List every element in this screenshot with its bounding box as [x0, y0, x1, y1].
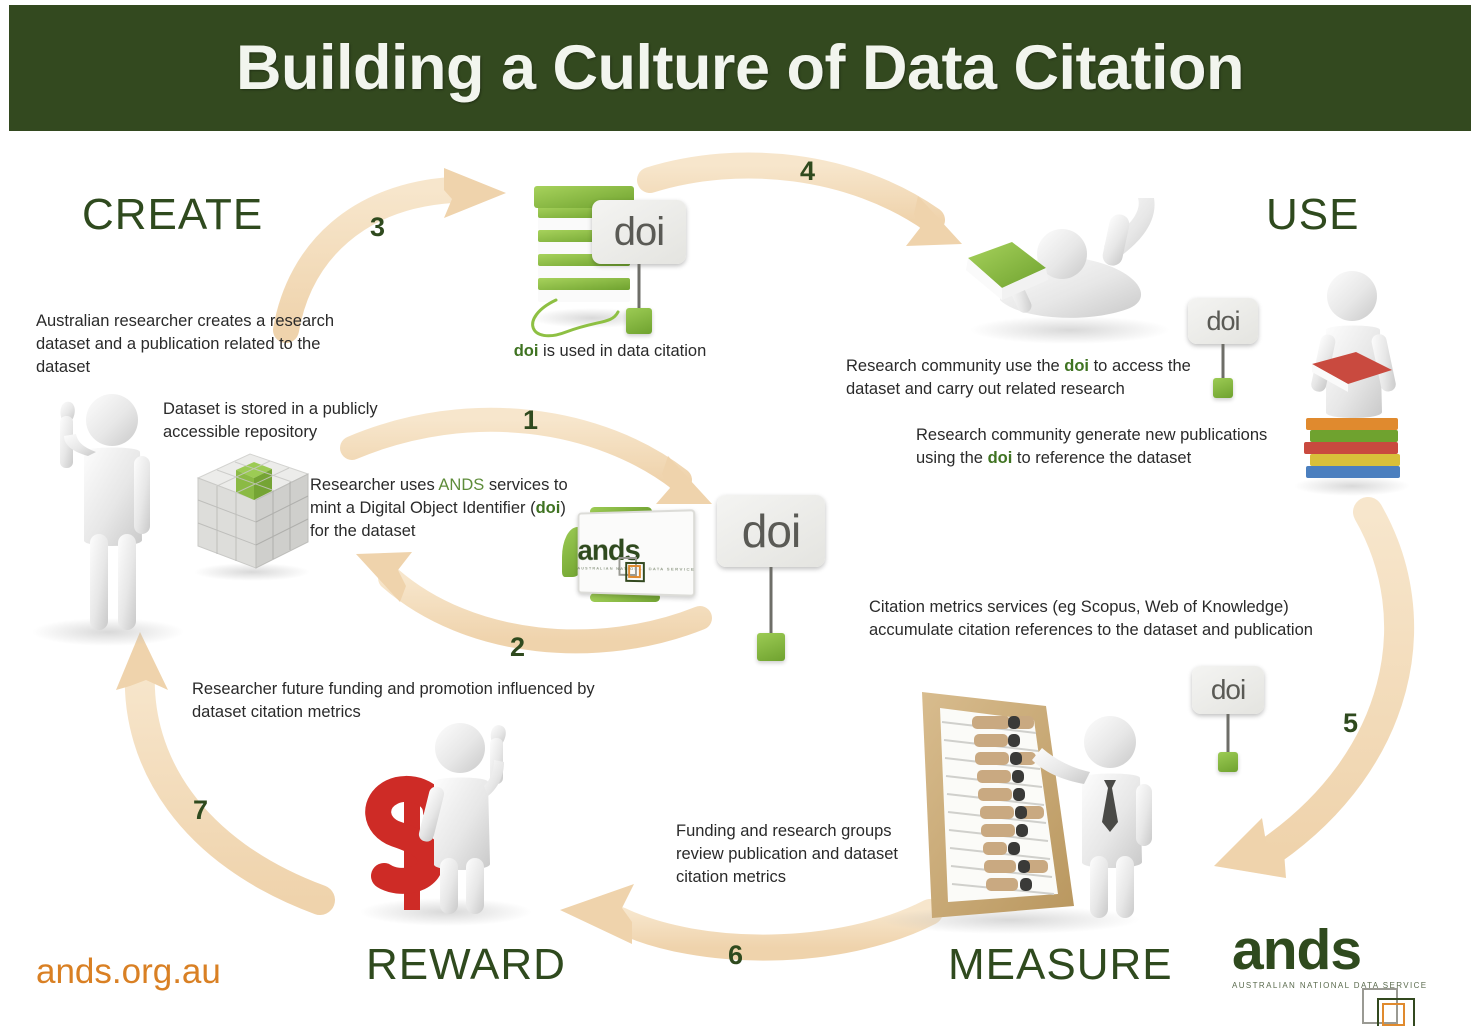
square-orange-icon — [1382, 1003, 1405, 1026]
square-orange-icon — [628, 564, 641, 577]
data-cube-icon — [194, 454, 310, 581]
doi-sign-use: doi — [1188, 298, 1258, 344]
stage-label-use: USE — [1266, 190, 1359, 240]
step-number-3: 3 — [370, 212, 385, 243]
doi-keyword: doi — [536, 499, 561, 517]
step-number-7: 7 — [193, 795, 208, 826]
text-create-description: Australian researcher creates a research… — [36, 310, 336, 378]
doi-sign-stem — [638, 264, 641, 314]
step-number-6: 6 — [728, 940, 743, 971]
doi-sign-base — [626, 308, 652, 334]
step-number-2: 2 — [510, 632, 525, 663]
doi-sign-main: doi — [717, 495, 825, 567]
site-url-link[interactable]: ands.org.au — [36, 952, 221, 992]
arrow-6 — [560, 884, 930, 948]
text-mint-doi: Researcher uses ANDS services to mint a … — [310, 474, 580, 542]
infographic-page: Building a Culture of Data Citation — [0, 0, 1480, 1026]
text-reward-funding: Researcher future funding and promotion … — [192, 678, 632, 724]
ands-logo-mark: ands AUSTRALIAN NATIONAL DATA SERVICE — [1232, 922, 1428, 990]
text-use-access: Research community use the doi to access… — [846, 355, 1206, 401]
doi-keyword: doi — [988, 449, 1013, 467]
doi-sign-label: doi — [1188, 298, 1258, 344]
abacus-figure — [880, 692, 1152, 934]
ands-logo-small: ands AUSTRALIAN NATIONAL DATA SERVICE — [578, 535, 696, 572]
doi-citation-rest: is used in data citation — [538, 342, 706, 360]
doi-sign-stem — [770, 567, 773, 641]
reward-figure — [360, 723, 532, 926]
text-use-publications: Research community generate new publicat… — [916, 424, 1306, 470]
text-citation-metrics: Citation metrics services (eg Scopus, We… — [869, 596, 1339, 642]
step-number-4: 4 — [800, 156, 815, 187]
ands-laptop-icon: ands AUSTRALIAN NATIONAL DATA SERVICE — [560, 505, 700, 613]
stage-label-create: CREATE — [82, 190, 263, 240]
doi-sign-label: doi — [592, 200, 686, 264]
mint-text-pre: Researcher uses — [310, 476, 438, 494]
laptop-screen: ands AUSTRALIAN NATIONAL DATA SERVICE — [578, 509, 696, 597]
page-title: Building a Culture of Data Citation — [236, 32, 1244, 104]
dollar-sign-icon — [378, 788, 436, 910]
ands-wordmark: ands — [1232, 922, 1428, 979]
stage-label-reward: REWARD — [366, 940, 566, 990]
use-pub-post: to reference the dataset — [1012, 449, 1191, 467]
person-on-books-figure — [1294, 271, 1410, 496]
doi-sign-base — [757, 633, 785, 661]
step-number-5: 5 — [1343, 708, 1358, 739]
doi-sign-label: doi — [1192, 666, 1264, 714]
ands-logo: ands AUSTRALIAN NATIONAL DATA SERVICE — [1232, 922, 1432, 1006]
doi-keyword: doi — [1064, 357, 1089, 375]
stage-label-measure: MEASURE — [948, 940, 1173, 990]
doi-sign-base — [1218, 752, 1238, 772]
arrow-7 — [116, 632, 320, 900]
step-number-1: 1 — [523, 405, 538, 436]
ands-keyword: ANDS — [438, 476, 484, 494]
text-repository: Dataset is stored in a publicly accessib… — [163, 398, 433, 444]
header-bar: Building a Culture of Data Citation — [9, 5, 1471, 131]
doi-sign-label: doi — [717, 495, 825, 567]
ands-tagline: AUSTRALIAN NATIONAL DATA SERVICE — [1232, 981, 1428, 990]
researcher-figure — [32, 394, 184, 646]
doi-sign-measure: doi — [1192, 666, 1264, 714]
arrow-3 — [286, 168, 506, 330]
text-doi-citation: doi is used in data citation — [470, 340, 750, 363]
doi-keyword: doi — [514, 342, 539, 360]
use-access-pre: Research community use the — [846, 357, 1064, 375]
doi-sign-books: doi — [592, 200, 686, 264]
doi-sign-base — [1213, 378, 1233, 398]
reading-person-figure — [966, 198, 1170, 344]
text-funding-review: Funding and research groups review publi… — [676, 820, 926, 888]
